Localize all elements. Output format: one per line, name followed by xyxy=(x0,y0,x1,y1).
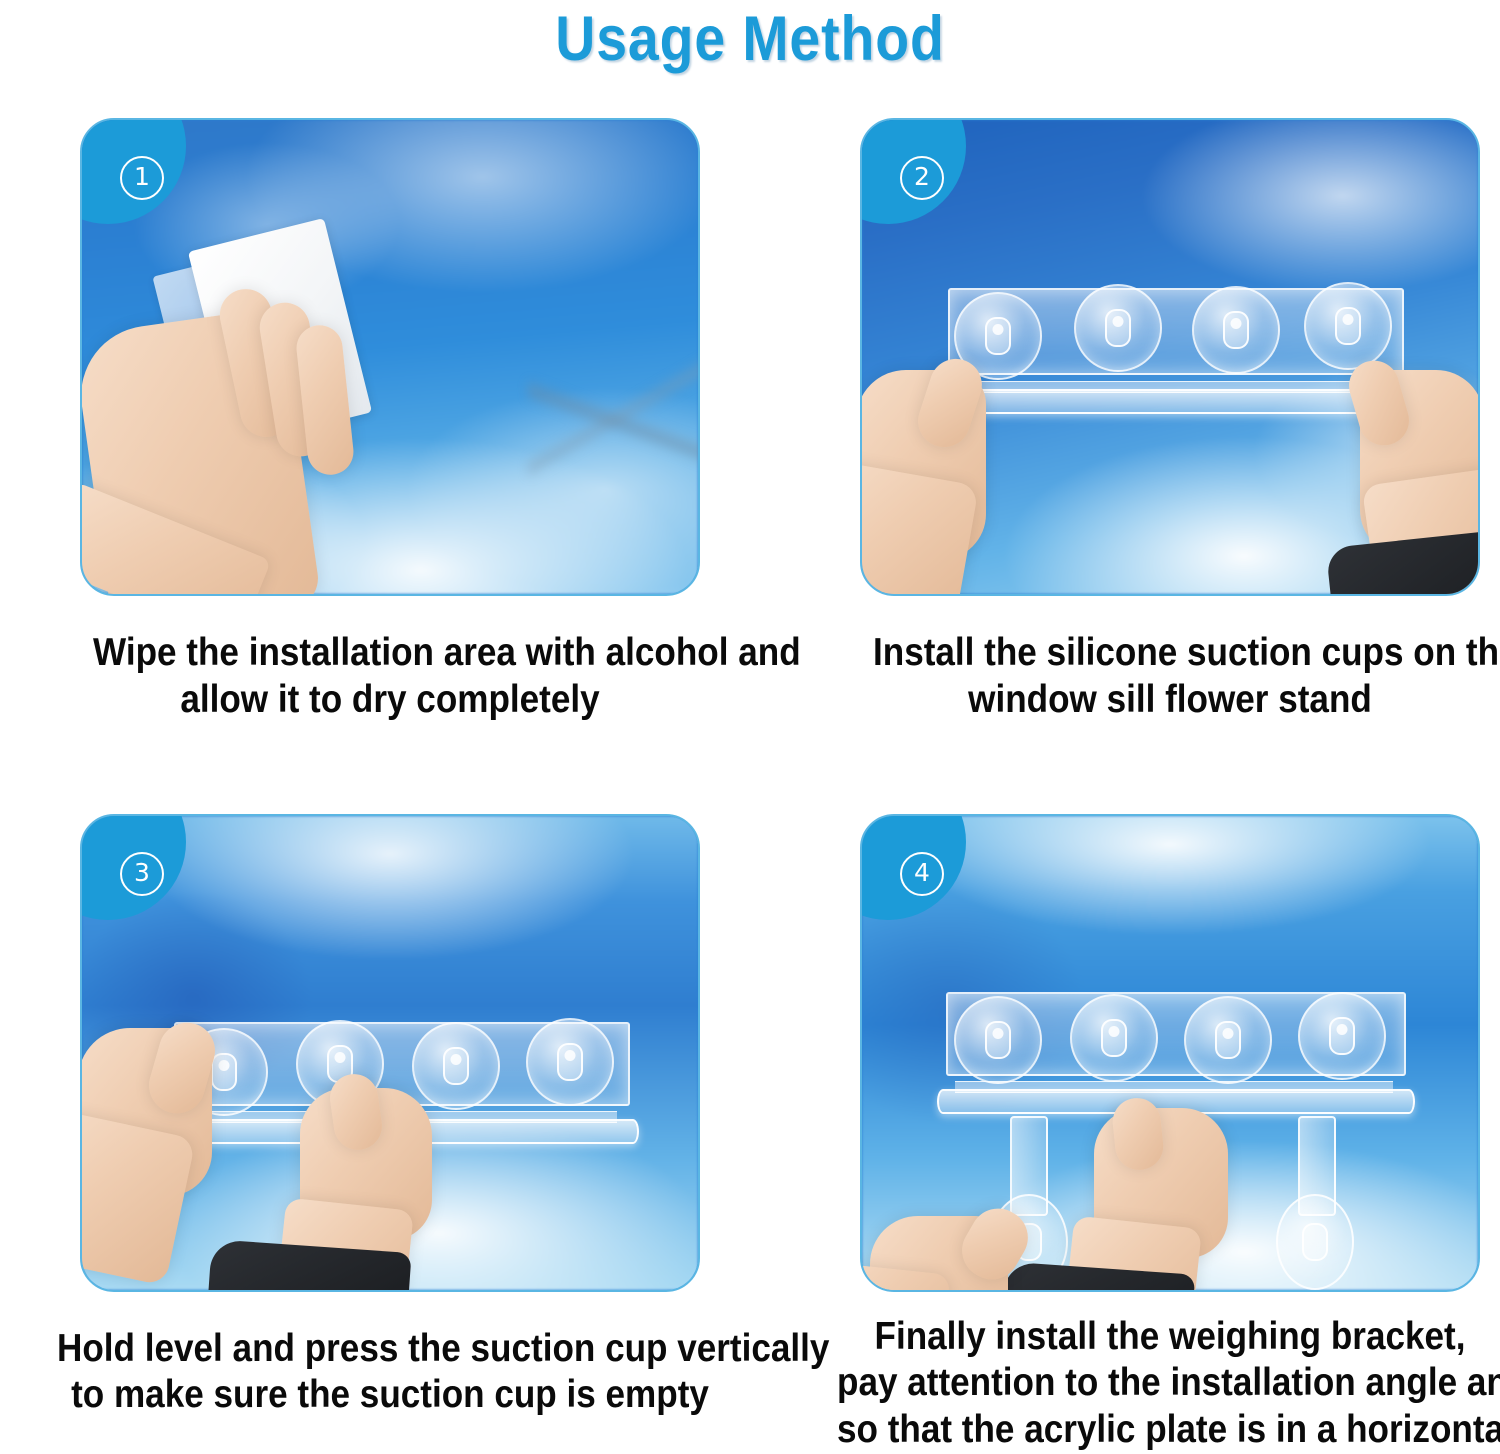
step-caption-3: Hold level and press the suction cup ver… xyxy=(57,1326,723,1420)
step-photo-1: 1 xyxy=(80,118,700,596)
step-badge-number: 4 xyxy=(900,852,944,896)
caption-line: so that the acrylic plate is in a horizo… xyxy=(837,1407,1500,1454)
suction-cup xyxy=(526,1018,614,1106)
suction-cup-nub xyxy=(1215,1021,1241,1059)
step-photo-2: 2 xyxy=(860,118,1480,596)
suction-cup xyxy=(1192,286,1280,374)
step-photo-3: 3 xyxy=(80,814,700,1292)
caption-line: to make sure the suction cup is empty xyxy=(57,1372,723,1419)
suction-cup xyxy=(1074,284,1162,372)
caption-line: Hold level and press the suction cup ver… xyxy=(57,1326,723,1373)
suction-cup-nub xyxy=(1101,1019,1127,1057)
suction-cup-nub xyxy=(985,317,1011,355)
suction-cup-nub xyxy=(557,1043,583,1081)
step-card-1: 1 Wipe the installation area with alcoho… xyxy=(0,118,750,724)
suction-cup-nub xyxy=(1302,1223,1328,1261)
suction-cup xyxy=(412,1022,500,1110)
acrylic-shelf-mounted xyxy=(946,992,1402,1114)
suction-cup-nub xyxy=(985,1021,1011,1059)
tree-branch-reflection xyxy=(528,348,700,498)
step-badge-number: 1 xyxy=(120,156,164,200)
suction-cup-nub xyxy=(1329,1017,1355,1055)
weighing-bracket-right-cup xyxy=(1276,1194,1354,1290)
caption-line: allow it to dry completely xyxy=(93,677,687,724)
step-row-top: 1 Wipe the installation area with alcoho… xyxy=(0,118,1500,724)
suction-cup xyxy=(1070,994,1158,1082)
step-caption-1: Wipe the installation area with alcohol … xyxy=(93,630,687,724)
suction-cup xyxy=(954,996,1042,1084)
suction-cup-nub xyxy=(443,1047,469,1085)
step-card-4: 4 Finally install the weighing bracket, … xyxy=(750,814,1500,1454)
suction-cup xyxy=(1304,282,1392,370)
step-card-3: 3 Hold level and press the suction cup v… xyxy=(0,814,750,1454)
step-card-2: 2 Install the silicone suction cups on t… xyxy=(750,118,1500,724)
steps-grid: 1 Wipe the installation area with alcoho… xyxy=(0,118,1500,1454)
step-caption-4: Finally install the weighing bracket, pa… xyxy=(837,1314,1500,1454)
suction-cup-nub xyxy=(1105,309,1131,347)
suction-cup-nub xyxy=(1335,307,1361,345)
caption-line: Finally install the weighing bracket, xyxy=(837,1314,1500,1361)
suction-cup-nub xyxy=(211,1053,237,1091)
suction-cup-nub xyxy=(1223,311,1249,349)
step-badge-number: 3 xyxy=(120,852,164,896)
step-row-bottom: 3 Hold level and press the suction cup v… xyxy=(0,814,1500,1454)
step-caption-2: Install the silicone suction cups on the… xyxy=(873,630,1467,724)
acrylic-shelf xyxy=(948,288,1400,414)
caption-line: window sill flower stand xyxy=(873,677,1467,724)
shelf-bottom-tray xyxy=(939,389,1413,414)
page-title: Usage Method xyxy=(90,0,1410,71)
caption-line: Wipe the installation area with alcohol … xyxy=(93,630,687,677)
caption-line: pay attention to the installation angle … xyxy=(837,1360,1500,1407)
step-badge-number: 2 xyxy=(900,156,944,200)
suction-cup xyxy=(1184,996,1272,1084)
suction-cup xyxy=(1298,992,1386,1080)
step-photo-4: 4 xyxy=(860,814,1480,1292)
caption-line: Install the silicone suction cups on the xyxy=(873,630,1467,677)
